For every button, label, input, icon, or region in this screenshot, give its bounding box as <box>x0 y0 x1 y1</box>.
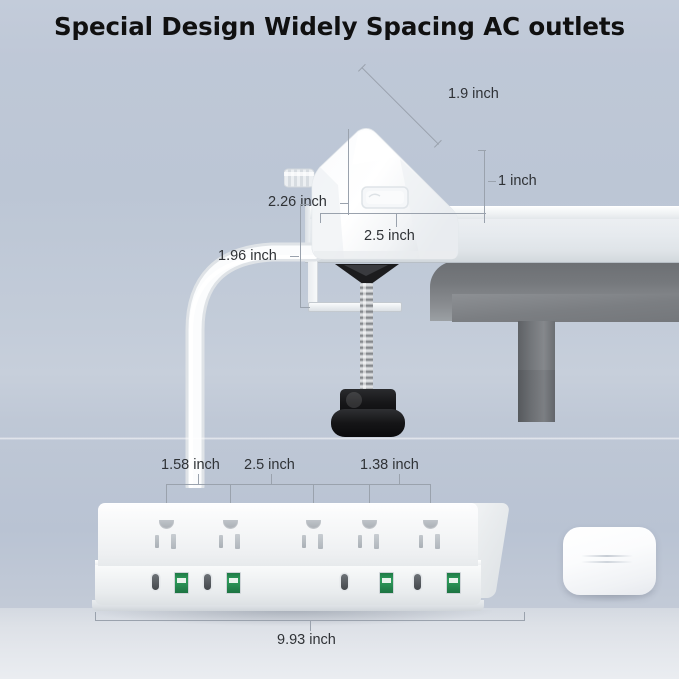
clamp-screw <box>360 283 373 395</box>
infographic-page: Special Design Widely Spacing AC outlets <box>0 0 679 679</box>
outlet-1 <box>146 520 186 560</box>
dim-line-desk-width <box>320 213 485 214</box>
outlet-slot-right <box>318 534 323 549</box>
dim-pointer-desk-width <box>396 213 397 227</box>
page-title: Special Design Widely Spacing AC outlets <box>0 12 679 41</box>
dim-label-total-length: 9.93 inch <box>277 632 336 648</box>
dim-label-spacing-1: 1.58 inch <box>161 457 220 473</box>
outlet-4 <box>349 520 389 560</box>
outlet-5 <box>410 520 450 560</box>
dim-label-clamp-opening: 1.96 inch <box>218 248 277 264</box>
usb-c-port-4 <box>414 574 421 590</box>
outlet-slot-left <box>302 535 306 548</box>
usb-a-port-4 <box>446 572 461 594</box>
desk-leg-upper <box>518 321 555 371</box>
clamp-mount-scene: 1.9 inch 2.26 inch 1 inch 2.5 inch 1.96 … <box>0 58 679 438</box>
outlet-slot-right <box>435 534 440 549</box>
dim-label-spacing-3: 1.38 inch <box>360 457 419 473</box>
outlet-slot-right <box>171 534 176 549</box>
outlet-2 <box>210 520 250 560</box>
desk-leg-lower <box>518 370 555 422</box>
outlet-slot-right <box>374 534 379 549</box>
outlet-ground-pin-icon <box>362 520 377 529</box>
dim-tick-head-height-top <box>478 150 486 151</box>
dim-label-head-height: 1 inch <box>498 173 537 189</box>
outlet-slot-left <box>358 535 362 548</box>
dim-tick-clamp-top <box>300 204 310 205</box>
dim-line-clamp-opening <box>300 204 301 308</box>
power-strip-shadow <box>92 610 492 626</box>
outlet-slot-right <box>235 534 240 549</box>
earbuds-case-seam-lower <box>581 561 633 563</box>
outlet-ground-pin-icon <box>306 520 321 529</box>
dim-stem-spacing-3 <box>399 474 400 485</box>
dim-tick-clamp-bot <box>300 307 310 308</box>
dim-pointer-total <box>310 620 311 631</box>
outlet-3 <box>293 520 333 560</box>
dim-line-outlet-spacings <box>166 484 430 485</box>
dim-tick-head-width <box>340 203 349 204</box>
outlet-slot-left <box>155 535 159 548</box>
usb-a-port-2 <box>226 572 241 594</box>
usb-c-port-3 <box>341 574 348 590</box>
dim-stem-spacing-2 <box>271 474 272 485</box>
dim-label-head-width: 2.26 inch <box>268 194 327 210</box>
usb-a-port-1 <box>174 572 189 594</box>
dim-tick-desk-width-right <box>484 213 485 223</box>
dim-label-desk-width: 2.5 inch <box>364 228 415 244</box>
outlet-ground-pin-icon <box>423 520 438 529</box>
dim-tick-total-left <box>95 612 96 621</box>
desk-underside-shade <box>452 294 679 322</box>
power-strip-scene: 1.58 inch 2.5 inch 1.38 inch <box>0 440 679 679</box>
power-strip-top-highlight <box>100 505 472 513</box>
dim-tick-total-right <box>524 612 525 621</box>
dim-stem-spacing-1 <box>198 474 199 485</box>
outlet-slot-left <box>419 535 423 548</box>
dim-tick-desk-width-left <box>320 213 321 223</box>
usb-c-port-2 <box>204 574 211 590</box>
dim-pointer-clamp <box>290 256 299 257</box>
dim-pointer-head-height <box>488 181 496 182</box>
usb-c-port-1 <box>152 574 159 590</box>
clamp-knob-highlight <box>346 392 362 408</box>
dim-label-spacing-2: 2.5 inch <box>244 457 295 473</box>
outlet-ground-pin-icon <box>159 520 174 529</box>
outlet-ground-pin-icon <box>223 520 238 529</box>
usb-a-port-3 <box>379 572 394 594</box>
outlet-slot-left <box>219 535 223 548</box>
earbuds-case-seam-upper <box>581 555 633 557</box>
clamp-knob-base <box>331 409 405 437</box>
clamp-cone-highlight <box>344 265 388 276</box>
clamp-screw-highlight <box>363 283 366 395</box>
earbuds-case <box>563 527 656 595</box>
dim-label-head-diagonal: 1.9 inch <box>448 86 499 102</box>
dim-line-head-height <box>484 150 485 214</box>
